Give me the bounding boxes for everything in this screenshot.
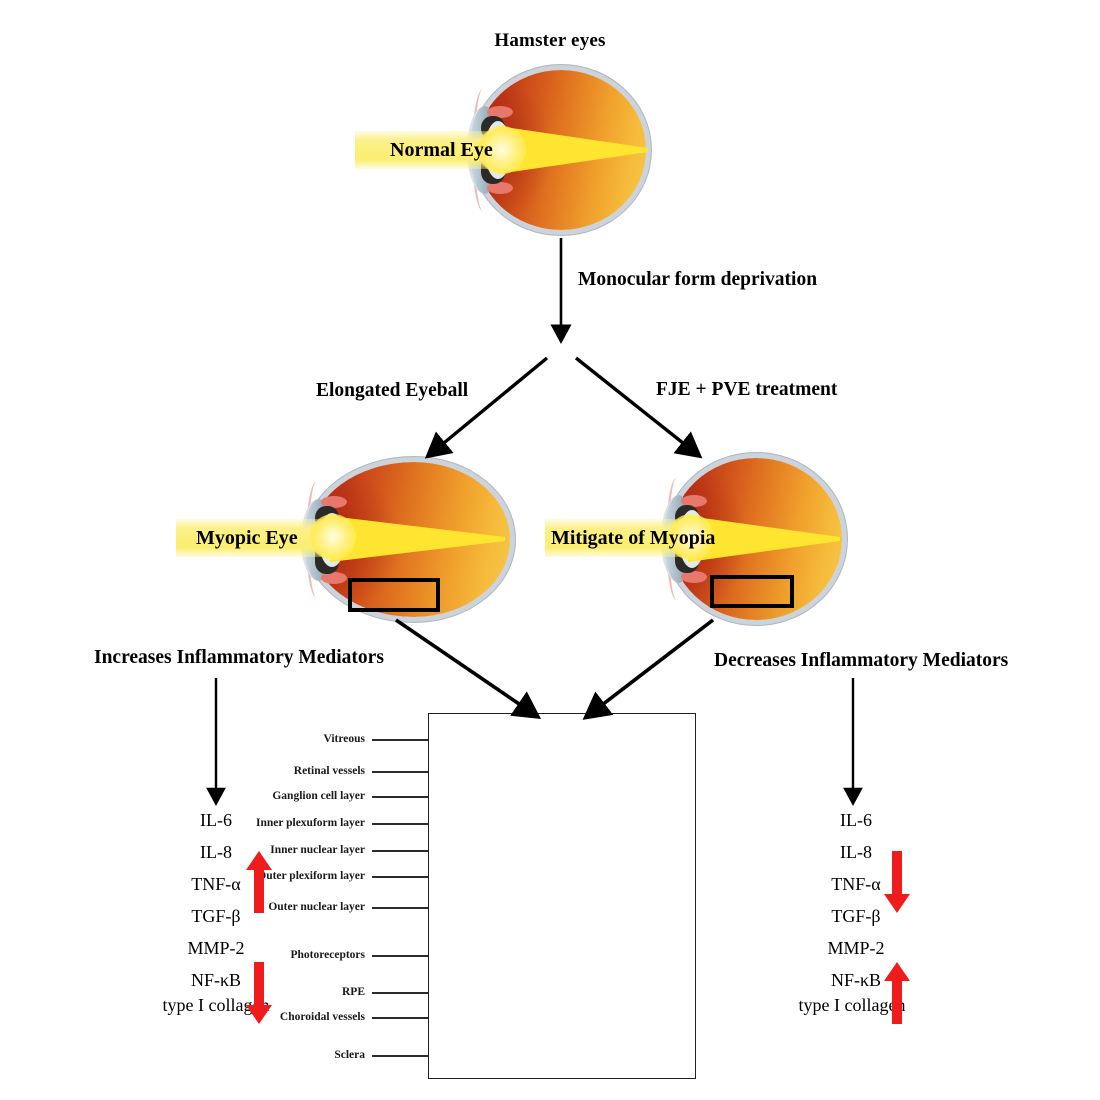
retina-label-choroidal-vessels: Choroidal vessels xyxy=(185,1011,365,1023)
diagram-canvas: Hamster eyes xyxy=(0,0,1100,1100)
label-monocular-form-deprivation: Monocular form deprivation xyxy=(578,269,817,291)
retina-label-ganglion-cell-layer: Ganglion cell layer xyxy=(185,790,365,802)
retina-label-vitreous: Vitreous xyxy=(195,733,365,745)
mediator-item: IL-6 xyxy=(780,810,932,831)
light-cone-normal xyxy=(498,118,648,182)
label-elongated-eyeball: Elongated Eyeball xyxy=(316,380,468,402)
retina-label-rpe: RPE xyxy=(195,986,365,998)
page-title: Hamster eyes xyxy=(0,30,1100,52)
arrow-to-treated-eye xyxy=(576,358,688,447)
retina-label-outer-nuclear-layer: Outer nuclear layer xyxy=(185,901,365,913)
retina-label-photoreceptors: Photoreceptors xyxy=(195,949,365,961)
leader-outer-plexiform xyxy=(372,876,428,878)
light-cone-myopic xyxy=(330,508,505,570)
retina-label-inner-nuclear-layer: Inner nuclear layer xyxy=(185,844,365,856)
label-fje-pve-treatment: FJE + PVE treatment xyxy=(656,379,837,401)
treated-retina-highlight-box xyxy=(710,575,794,608)
myopic-retina-highlight-box xyxy=(348,578,440,612)
heading-increases-mediators: Increases Inflammatory Mediators xyxy=(94,647,384,669)
arrow-to-myopic-eye xyxy=(439,358,547,447)
retina-label-retinal-vessels: Retinal vessels xyxy=(195,765,365,777)
retina-label-sclera: Sclera xyxy=(195,1049,365,1061)
left-collagen-down-arrow xyxy=(246,962,272,1024)
myopic-eye-label: Myopic Eye xyxy=(196,527,298,550)
treated-eye-label: Mitigate of Myopia xyxy=(551,527,715,550)
leader-sclera xyxy=(372,1055,428,1057)
arrow-treated-to-retina xyxy=(598,620,713,708)
right-collagen-up-arrow xyxy=(884,962,910,1024)
mediator-item: MMP-2 xyxy=(780,938,932,959)
right-mediators-down-arrow xyxy=(884,851,910,913)
leader-outer-nuclear xyxy=(372,907,428,909)
leader-vitreous xyxy=(372,739,428,741)
left-mediators-up-arrow xyxy=(246,851,272,913)
retina-cross-section-frame xyxy=(428,713,696,1079)
leader-choroidal xyxy=(372,1017,428,1019)
leader-inner-plexiform xyxy=(372,823,428,825)
arrow-myopic-to-retina xyxy=(396,620,525,708)
retina-label-inner-plexuform-layer: Inner plexuform layer xyxy=(178,817,365,829)
leader-photoreceptors xyxy=(372,955,428,957)
leader-inner-nuclear xyxy=(372,850,428,852)
leader-retinal-vessels xyxy=(372,771,428,773)
heading-decreases-mediators: Decreases Inflammatory Mediators xyxy=(714,650,1008,672)
normal-eye-label: Normal Eye xyxy=(390,139,493,162)
leader-rpe xyxy=(372,992,428,994)
leader-ganglion xyxy=(372,796,428,798)
